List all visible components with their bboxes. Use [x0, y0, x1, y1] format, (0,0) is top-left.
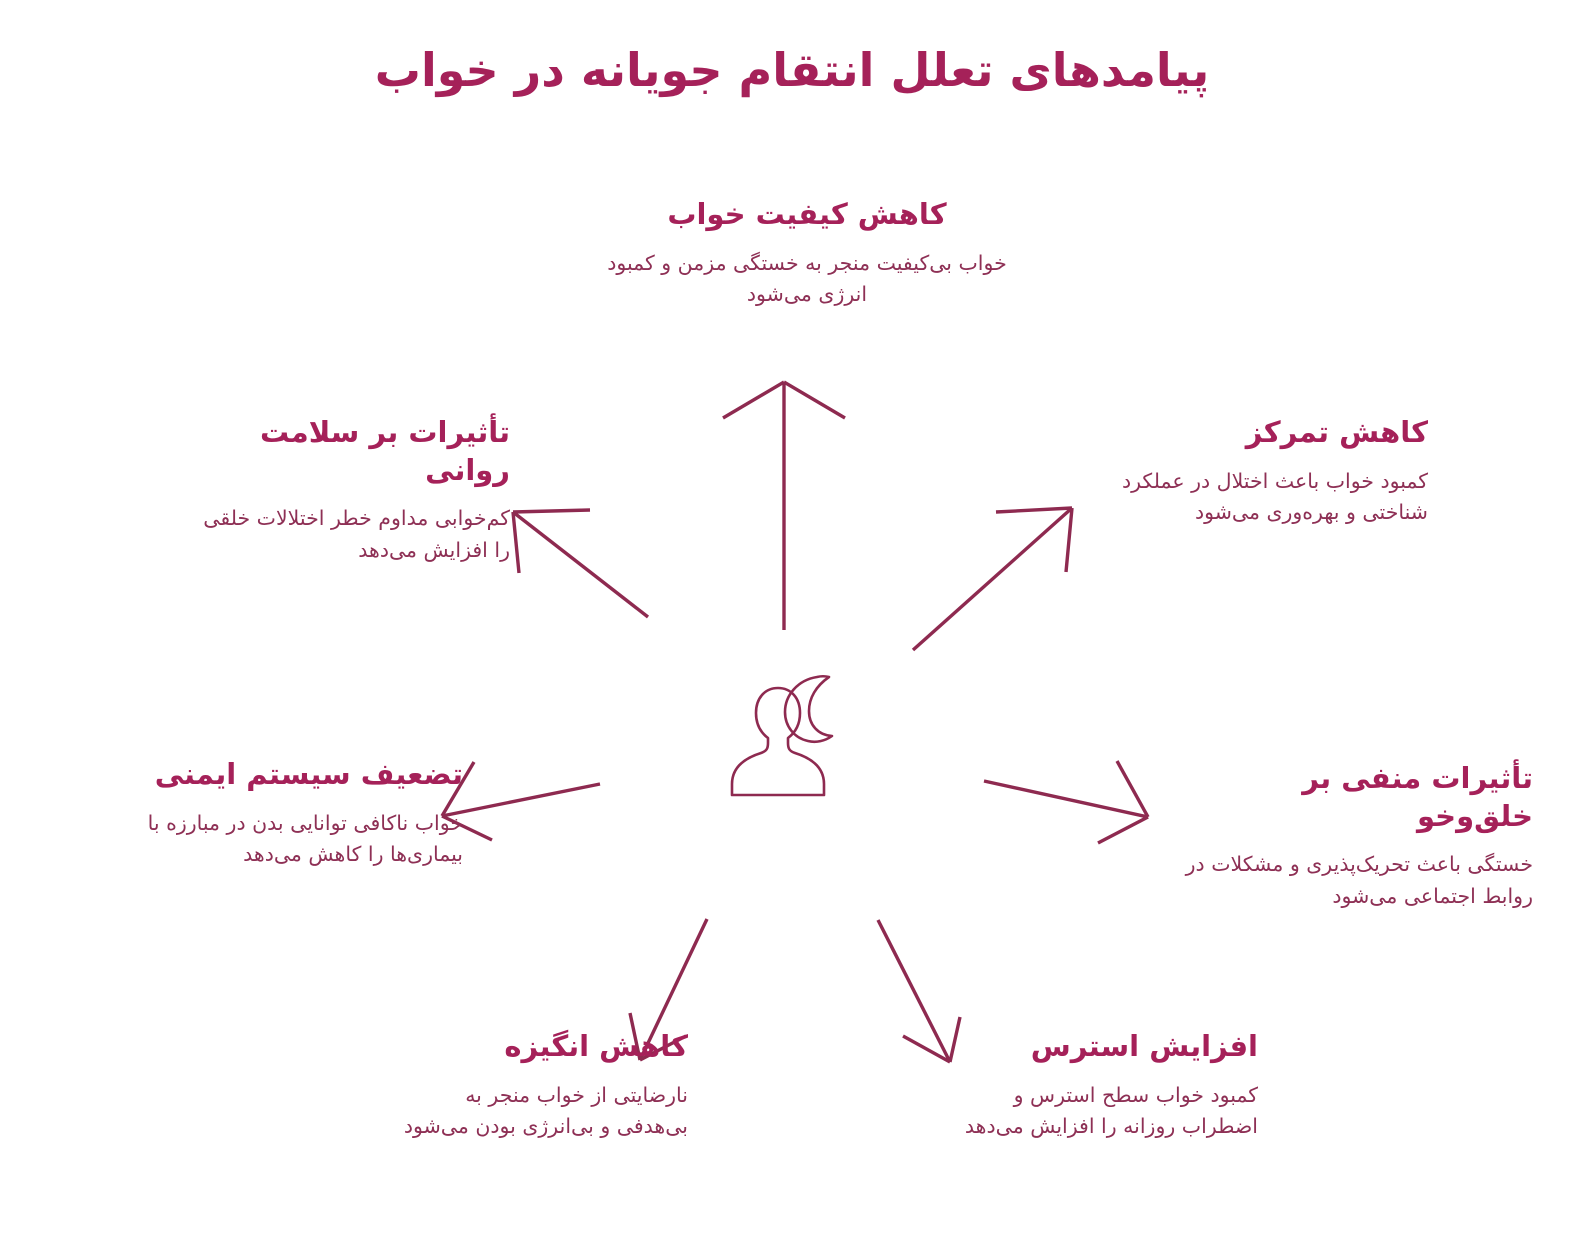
- arrow-to-mood: [984, 761, 1148, 843]
- arrow-layer: [0, 0, 1584, 1248]
- arrow-to-immune: [442, 762, 600, 840]
- node-focus: کاهش تمرکز کمبود خواب باعث اختلال در عمل…: [1098, 414, 1428, 529]
- node-motivation-title: کاهش انگیزه: [388, 1028, 688, 1066]
- arrow-to-focus: [913, 508, 1072, 650]
- node-sleep-quality-desc: خواب بی‌کیفیت منجر به خستگی مزمن و کمبود…: [592, 248, 1022, 312]
- node-mood-desc: خستگی باعث تحریک‌پذیری و مشکلات در روابط…: [1183, 849, 1533, 913]
- node-immune-title: تضعیف سیستم ایمنی: [143, 756, 463, 794]
- node-mental: تأثیرات بر سلامت روانی کم‌خوابی مداوم خط…: [190, 414, 510, 567]
- arrow-to-mental: [513, 510, 648, 617]
- node-motivation: کاهش انگیزه نارضایتی از خواب منجر به بی‌…: [388, 1028, 688, 1143]
- node-sleep-quality-title: کاهش کیفیت خواب: [592, 196, 1022, 234]
- node-immune-desc: خواب ناکافی توانایی بدن در مبارزه با بیم…: [143, 808, 463, 872]
- node-focus-desc: کمبود خواب باعث اختلال در عملکرد شناختی …: [1098, 466, 1428, 530]
- crescent-moon-icon: [785, 676, 832, 742]
- node-mood: تأثیرات منفی بر خلق‌وخو خستگی باعث تحریک…: [1183, 760, 1533, 913]
- node-mental-title: تأثیرات بر سلامت روانی: [190, 414, 510, 489]
- node-focus-title: کاهش تمرکز: [1098, 414, 1428, 452]
- node-immune: تضعیف سیستم ایمنی خواب ناکافی توانایی بد…: [143, 756, 463, 871]
- center-sleep-icon: [705, 655, 885, 815]
- infographic-canvas: پیامدهای تعلل انتقام جویانه در خواب: [0, 0, 1584, 1248]
- page-title: پیامدهای تعلل انتقام جویانه در خواب: [0, 42, 1584, 100]
- node-stress: افزایش استرس کمبود خواب سطح استرس و اضطر…: [958, 1028, 1258, 1143]
- arrow-to-sleep-quality: [723, 382, 845, 630]
- arrow-to-stress: [878, 920, 960, 1062]
- node-stress-desc: کمبود خواب سطح استرس و اضطراب روزانه را …: [958, 1080, 1258, 1144]
- node-sleep-quality: کاهش کیفیت خواب خواب بی‌کیفیت منجر به خس…: [592, 196, 1022, 311]
- node-motivation-desc: نارضایتی از خواب منجر به بی‌هدفی و بی‌ان…: [388, 1080, 688, 1144]
- node-stress-title: افزایش استرس: [958, 1028, 1258, 1066]
- node-mood-title: تأثیرات منفی بر خلق‌وخو: [1183, 760, 1533, 835]
- node-mental-desc: کم‌خوابی مداوم خطر اختلالات خلقی را افزا…: [190, 503, 510, 567]
